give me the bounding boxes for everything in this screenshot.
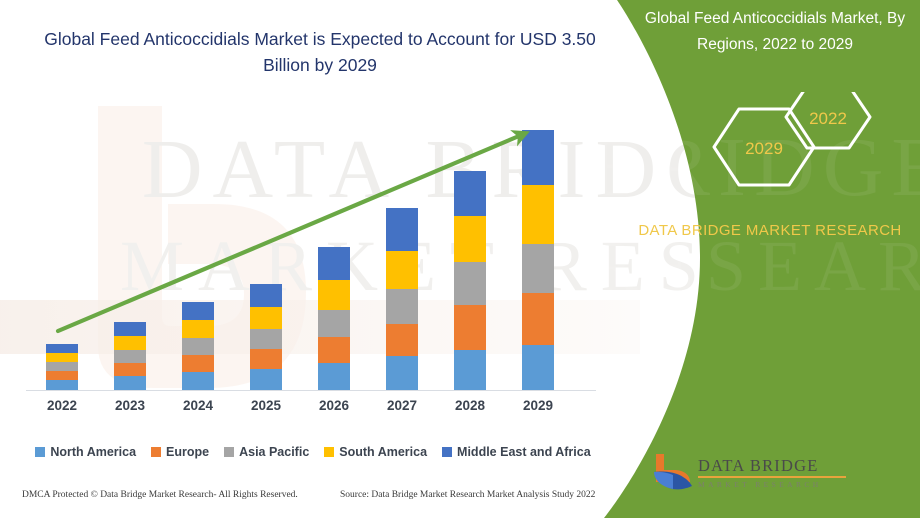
logo-bridge-mark xyxy=(650,452,696,494)
hexagon-2029-label: 2029 xyxy=(745,139,783,158)
hexagon-group: 2029 2022 xyxy=(640,92,900,202)
legend-label: Asia Pacific xyxy=(239,445,309,459)
hexagon-2022-label: 2022 xyxy=(809,109,847,128)
x-axis-label-2027: 2027 xyxy=(367,398,437,413)
logo-text-block: DATA BRIDGE MARKET RESEARCH xyxy=(698,456,868,491)
stacked-bar-chart: 20222023202420252026202720282029 xyxy=(0,0,620,440)
legend-swatch-icon xyxy=(35,447,45,457)
legend-swatch-icon xyxy=(151,447,161,457)
footer-copyright: DMCA Protected © Data Bridge Market Rese… xyxy=(22,490,298,500)
legend-label: North America xyxy=(50,445,136,459)
panel-title: Global Feed Anticoccidials Market, By Re… xyxy=(630,6,920,58)
legend-item-north-america[interactable]: North America xyxy=(35,445,136,459)
x-axis-label-2024: 2024 xyxy=(163,398,233,413)
logo-subtitle: MARKET RESEARCH xyxy=(698,479,868,491)
slide-root: DATA BRIDGE MARKET RESEARCH Global Feed … xyxy=(0,0,920,518)
legend-swatch-icon xyxy=(224,447,234,457)
x-axis-label-2028: 2028 xyxy=(435,398,505,413)
x-axis-label-2025: 2025 xyxy=(231,398,301,413)
legend-item-south-america[interactable]: South America xyxy=(324,445,427,459)
green-panel-content: BRIDGE RESEARCH Global Feed Anticoccidia… xyxy=(620,0,920,518)
dbmr-logo: DATA BRIDGE MARKET RESEARCH xyxy=(650,452,870,498)
footer-source: Source: Data Bridge Market Research Mark… xyxy=(340,490,595,500)
logo-divider xyxy=(698,476,846,478)
legend-label: Middle East and Africa xyxy=(457,445,591,459)
brand-name: DATA BRIDGE MARKET RESEARCH xyxy=(620,218,920,244)
legend-item-middle-east-and-africa[interactable]: Middle East and Africa xyxy=(442,445,591,459)
legend-item-asia-pacific[interactable]: Asia Pacific xyxy=(224,445,309,459)
legend-swatch-icon xyxy=(442,447,452,457)
growth-arrow-icon xyxy=(0,0,620,400)
footer: DMCA Protected © Data Bridge Market Rese… xyxy=(0,486,620,510)
legend-item-europe[interactable]: Europe xyxy=(151,445,209,459)
legend-swatch-icon xyxy=(324,447,334,457)
legend-label: Europe xyxy=(166,445,209,459)
logo-title: DATA BRIDGE xyxy=(698,456,868,475)
x-axis-label-2023: 2023 xyxy=(95,398,165,413)
x-axis-label-2029: 2029 xyxy=(503,398,573,413)
x-axis-label-2022: 2022 xyxy=(27,398,97,413)
chart-legend: North AmericaEuropeAsia PacificSouth Ame… xyxy=(28,443,598,461)
legend-label: South America xyxy=(339,445,427,459)
x-axis-label-2026: 2026 xyxy=(299,398,369,413)
